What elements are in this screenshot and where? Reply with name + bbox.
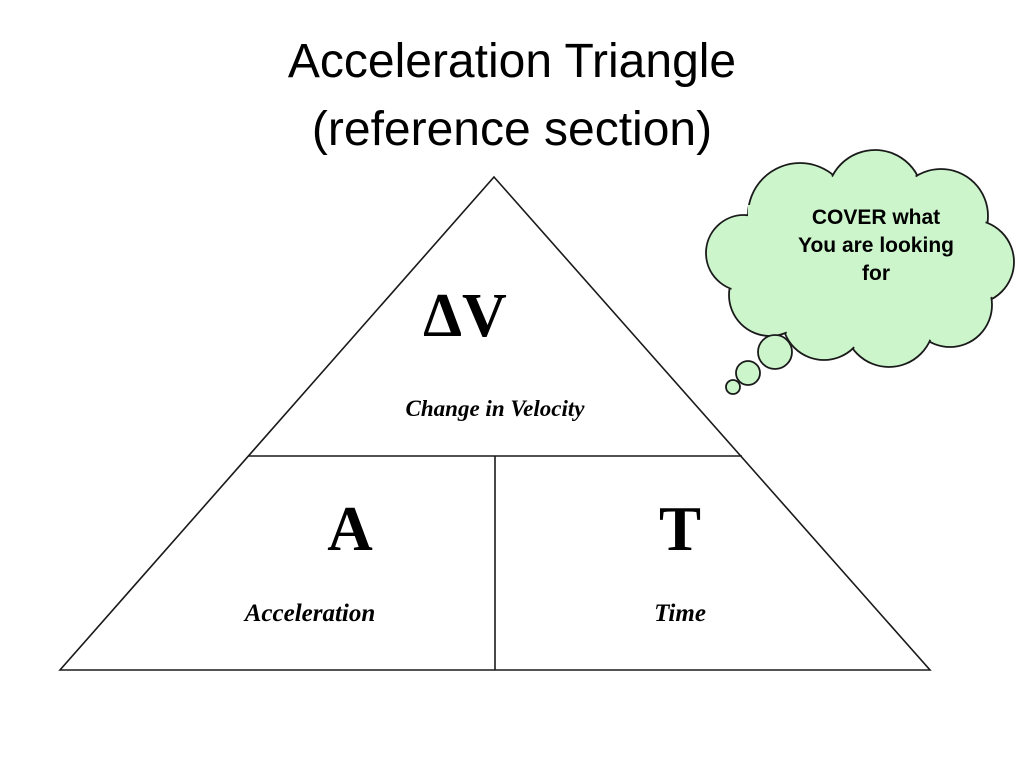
thought-bubble-tail-medium [736,361,760,385]
thought-bubble-line-2: You are looking [757,232,995,260]
diagram-shapes-layer [0,0,1024,768]
thought-bubble-text: COVER what You are looking for [757,204,995,288]
thought-bubble-line-1: COVER what [757,204,995,232]
thought-bubble-tail-large [758,335,792,369]
slide-canvas: Acceleration Triangle (reference section… [0,0,1024,768]
triangle-bottom-left-symbol: A [250,498,450,561]
thought-bubble-line-3: for [757,260,995,288]
triangle-bottom-right-caption: Time [580,600,780,628]
triangle-bottom-left-caption: Acceleration [185,600,435,628]
triangle-top-caption: Change in Velocity [345,396,645,422]
triangle-top-symbol: ΔV [365,285,565,347]
triangle-bottom-right-symbol: T [580,498,780,561]
thought-bubble-tail-small [726,380,740,394]
